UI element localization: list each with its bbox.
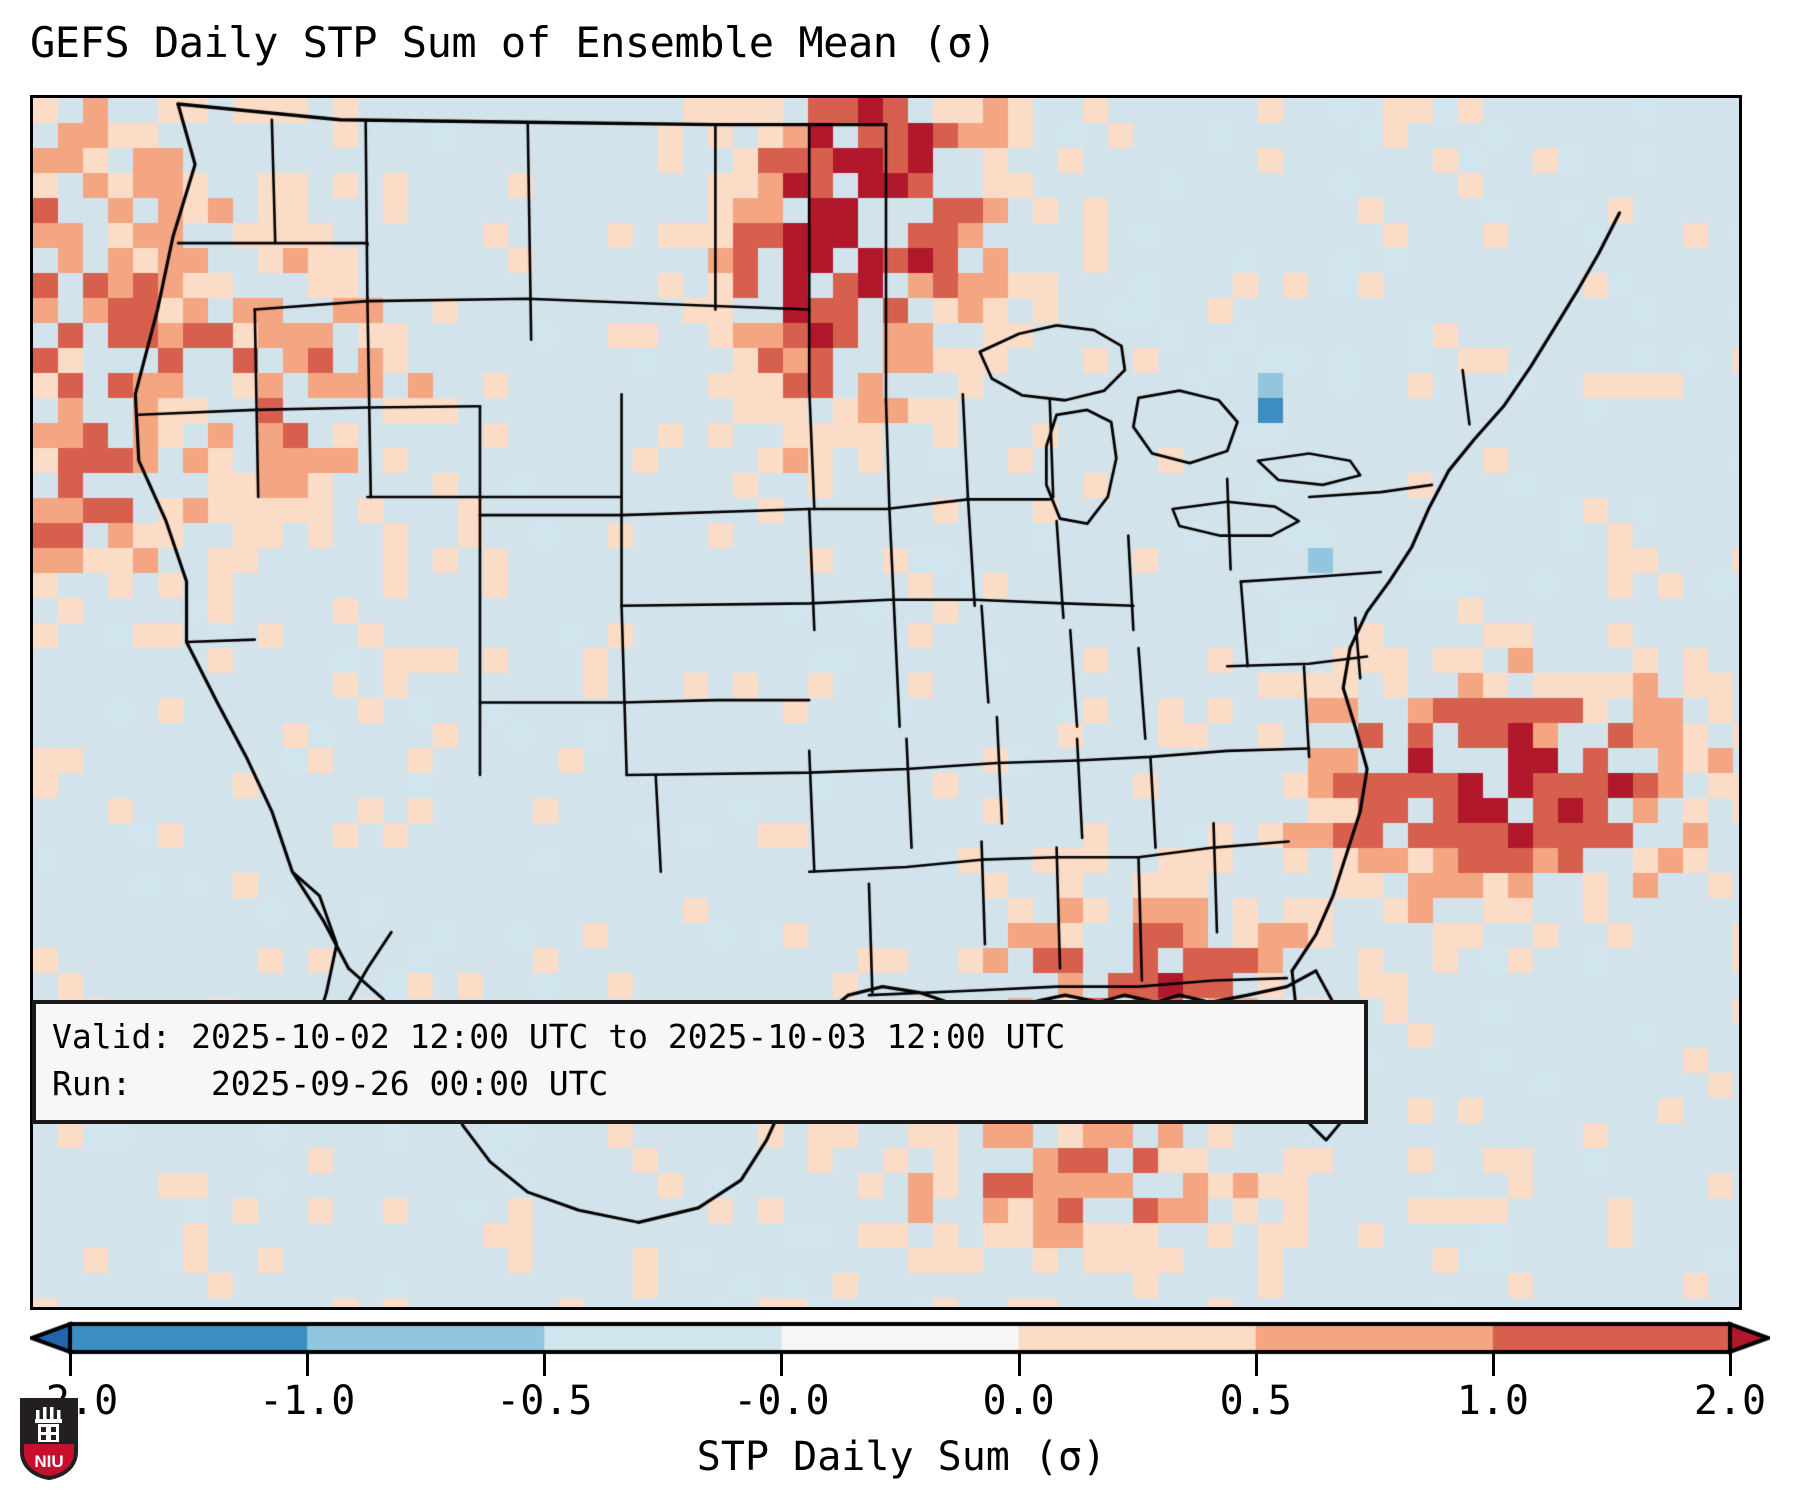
valid-time-line: Valid: 2025-10-02 12:00 UTC to 2025-10-0… — [52, 1014, 1348, 1061]
colorbar-tick — [1018, 1352, 1021, 1376]
colorbar-tick-labels: -2.0-1.0-0.5-0.00.00.51.02.0 — [30, 1378, 1770, 1428]
colorbar-tick-label: -1.0 — [259, 1378, 355, 1424]
colorbar-tick — [1492, 1352, 1495, 1376]
colorbar-tick-label: 0.0 — [982, 1378, 1054, 1424]
stp-heatmap-grid — [33, 98, 1739, 1307]
colorbar-axis-label: STP Daily Sum (σ) — [0, 1434, 1803, 1480]
colorbar-tick-label: 0.5 — [1220, 1378, 1292, 1424]
colorbar-tick-label: 1.0 — [1457, 1378, 1529, 1424]
page-title: GEFS Daily STP Sum of Ensemble Mean (σ) — [30, 18, 1770, 67]
colorbar-tick-label: -0.5 — [496, 1378, 592, 1424]
colorbar-ticks — [30, 1352, 1770, 1380]
colorbar-tick-label: -0.0 — [733, 1378, 829, 1424]
colorbar-tick — [69, 1352, 72, 1376]
colorbar-tick — [1255, 1352, 1258, 1376]
run-time-line: Run: 2025-09-26 00:00 UTC — [52, 1061, 1348, 1108]
colorbar-tick — [543, 1352, 546, 1376]
niu-logo: NIU — [18, 1396, 80, 1482]
forecast-info-box: Valid: 2025-10-02 12:00 UTC to 2025-10-0… — [32, 1000, 1368, 1124]
svg-text:NIU: NIU — [34, 1452, 63, 1471]
colorbar-tick — [780, 1352, 783, 1376]
colorbar-tick — [1729, 1352, 1732, 1376]
colorbar-tick — [306, 1352, 309, 1376]
colorbar-tick-label: 2.0 — [1694, 1378, 1766, 1424]
map-plot-area — [30, 95, 1742, 1310]
